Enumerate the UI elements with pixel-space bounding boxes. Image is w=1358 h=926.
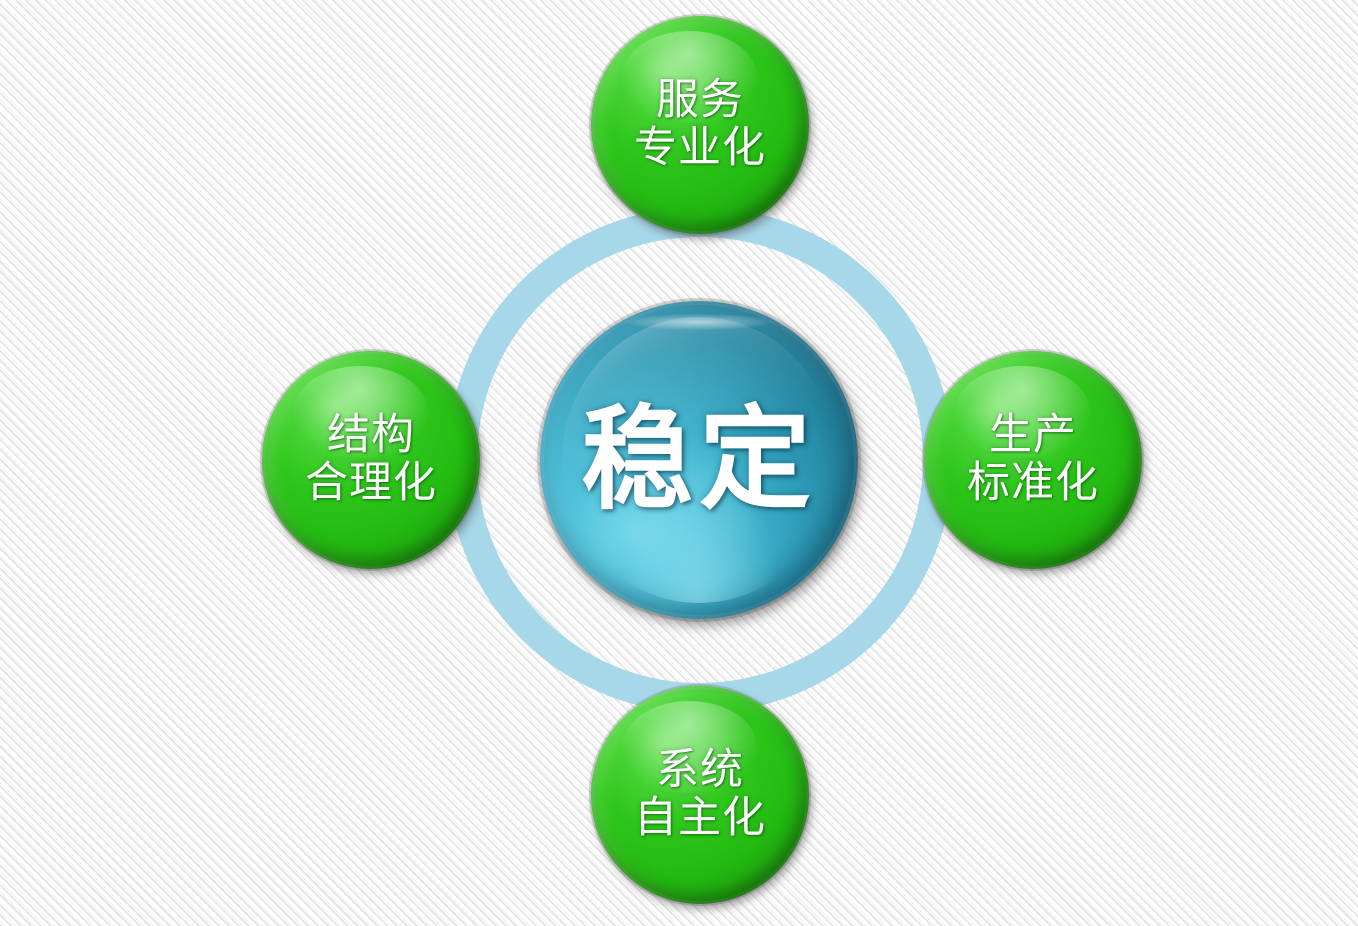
node-system-autonomy[interactable]: 系统 自主化 bbox=[591, 686, 809, 904]
node-production-standardization[interactable]: 生产 标准化 bbox=[924, 351, 1142, 569]
center-node-label: 稳定 bbox=[581, 404, 817, 516]
node-service-specialization[interactable]: 服务 专业化 bbox=[591, 16, 809, 234]
node-structure-rationalization[interactable]: 结构 合理化 bbox=[262, 351, 480, 569]
diagram-canvas: 服务 专业化 生产 标准化 系统 自主化 结构 合理化 稳定 bbox=[0, 0, 1358, 926]
center-node-stability[interactable]: 稳定 bbox=[540, 301, 858, 619]
node-label-system-autonomy: 系统 自主化 bbox=[634, 747, 766, 843]
node-label-service-specialization: 服务 专业化 bbox=[634, 77, 766, 173]
node-label-structure-rationalization: 结构 合理化 bbox=[305, 412, 437, 508]
node-label-production-standardization: 生产 标准化 bbox=[967, 412, 1099, 508]
